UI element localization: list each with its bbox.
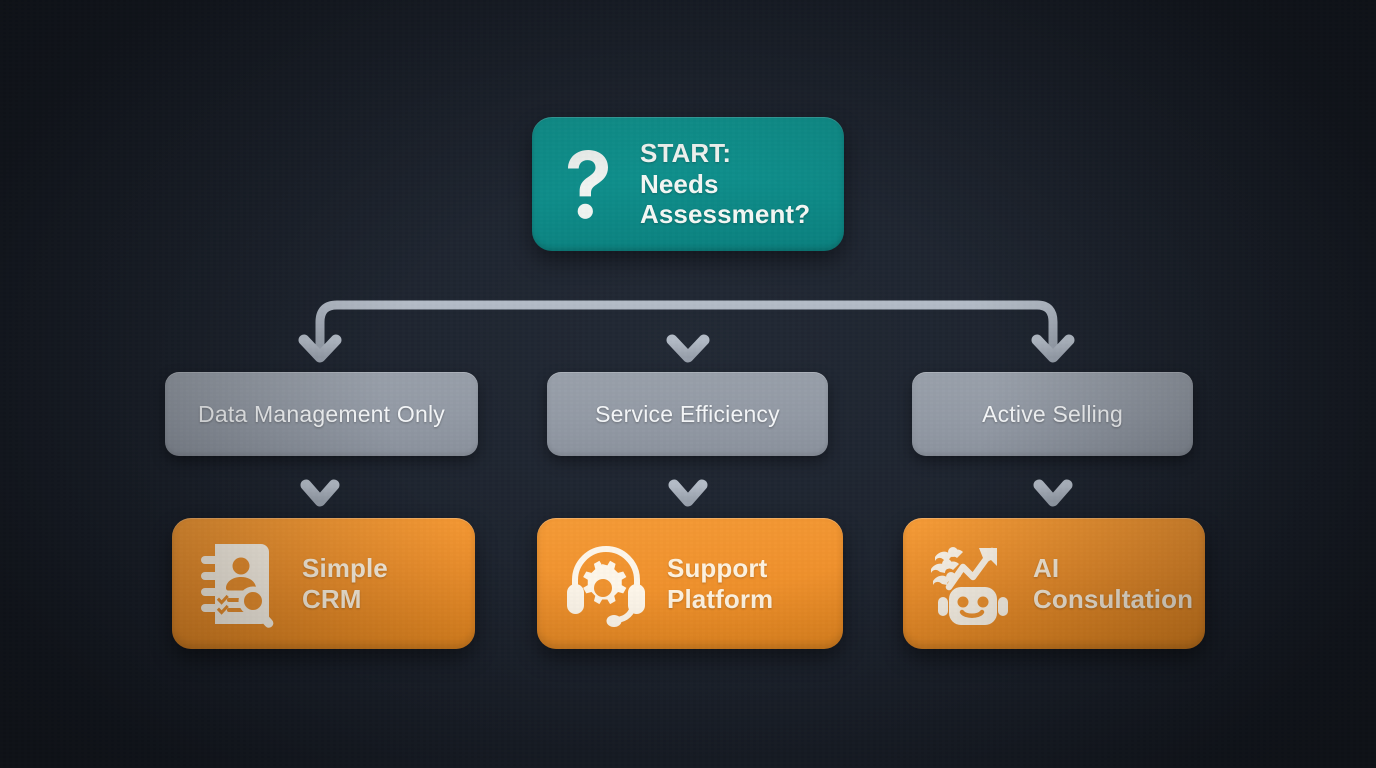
outcome-label: AI Consultation bbox=[1033, 553, 1193, 615]
outcome-line-1: Support bbox=[667, 553, 773, 584]
flowchart-canvas: START: Needs Assessment? Data Management… bbox=[0, 0, 1376, 768]
arrowhead-to-branch1 bbox=[672, 340, 704, 357]
question-mark-icon bbox=[556, 147, 620, 221]
node-outcome-ai-consultation[interactable]: AI Consultation bbox=[903, 518, 1205, 649]
outcome-line-2: Platform bbox=[667, 584, 773, 615]
branch-label: Data Management Only bbox=[198, 401, 445, 428]
outcome-line-2: CRM bbox=[302, 584, 388, 615]
branch-label: Service Efficiency bbox=[595, 401, 780, 428]
start-kicker: START: bbox=[640, 138, 810, 169]
arrowhead-to-outcome1 bbox=[674, 485, 702, 501]
node-branch-service-efficiency[interactable]: Service Efficiency bbox=[547, 372, 828, 456]
node-outcome-support-platform[interactable]: Support Platform bbox=[537, 518, 843, 649]
arrowhead-to-branch0 bbox=[304, 340, 336, 357]
outcome-label: Support Platform bbox=[667, 553, 773, 615]
contact-book-search-icon bbox=[198, 540, 284, 628]
start-node-text: START: Needs Assessment? bbox=[640, 138, 810, 231]
arrowhead-to-branch2 bbox=[1037, 340, 1069, 357]
outcome-label: Simple CRM bbox=[302, 553, 388, 615]
node-branch-active-selling[interactable]: Active Selling bbox=[912, 372, 1193, 456]
start-line-3: Assessment? bbox=[640, 199, 810, 230]
robot-brain-growth-icon bbox=[929, 539, 1015, 629]
branch-label: Active Selling bbox=[982, 401, 1123, 428]
node-start-needs-assessment[interactable]: START: Needs Assessment? bbox=[532, 117, 844, 251]
headset-gear-icon bbox=[563, 540, 649, 628]
arrowhead-to-outcome2 bbox=[1039, 485, 1067, 501]
node-branch-data-management-only[interactable]: Data Management Only bbox=[165, 372, 478, 456]
connector-branch-bus bbox=[320, 305, 1053, 345]
outcome-line-2: Consultation bbox=[1033, 584, 1193, 615]
outcome-line-1: AI bbox=[1033, 553, 1193, 584]
outcome-line-1: Simple bbox=[302, 553, 388, 584]
node-outcome-simple-crm[interactable]: Simple CRM bbox=[172, 518, 475, 649]
start-line-2: Needs bbox=[640, 169, 810, 200]
arrowhead-to-outcome0 bbox=[306, 485, 334, 501]
